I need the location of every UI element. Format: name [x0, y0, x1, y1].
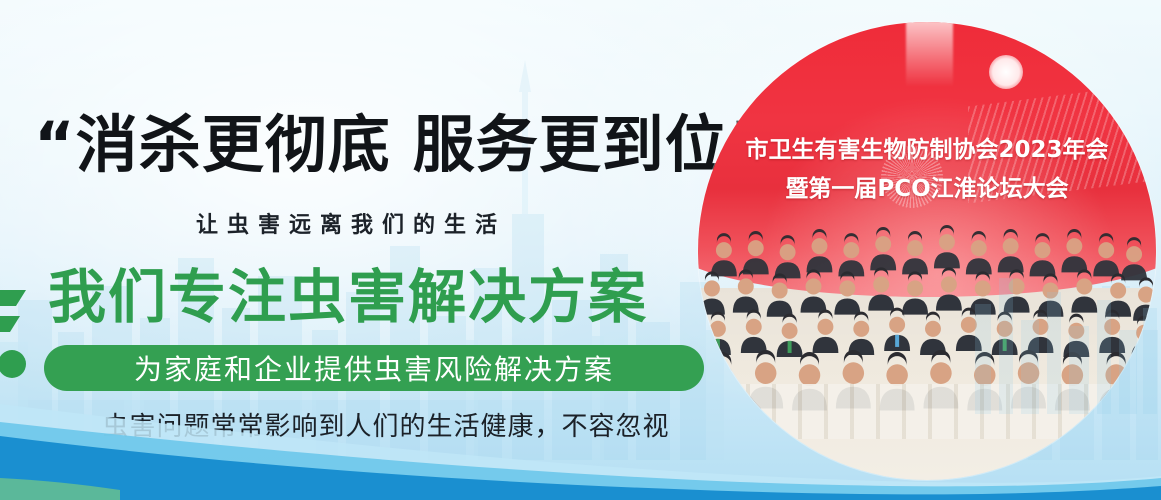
backdrop-headline-line-1: 市卫生有害生物防制协会2023年会: [698, 130, 1156, 164]
backdrop-headline-line-2: 暨第一届PCO江淮论坛大会: [698, 169, 1156, 203]
page-title: “消杀更彻底服务更到位”: [34, 114, 714, 176]
chevron-decoration-icon: [0, 286, 44, 406]
headline-part-1: “消杀更彻底: [34, 108, 391, 181]
conference-photo: 防制协会 市卫生有害生物防制协会2023年会 暨第一届PCO江淮论坛大会: [698, 22, 1156, 480]
stage-light-streak: [906, 22, 952, 87]
value-proposition-pill: 为家庭和企业提供虫害风险解决方案: [44, 345, 704, 391]
green-headline: 我们专注虫害解决方案: [48, 268, 648, 326]
photo-chair-row: [698, 384, 1156, 439]
subtitle: 让虫害远离我们的生活: [196, 207, 506, 239]
tagline: 虫害问题常常影响到人们的生活健康，不容忽视: [66, 406, 706, 443]
spotlight-icon: [989, 55, 1023, 89]
backdrop-association-mark: 防制协会: [706, 59, 755, 79]
copy-block: “消杀更彻底服务更到位” 让虫害远离我们的生活 我们专注虫害解决方案 为家庭和企…: [0, 0, 720, 500]
pill-label: 为家庭和企业提供虫害风险解决方案: [134, 348, 614, 388]
hero-banner: “消杀更彻底服务更到位” 让虫害远离我们的生活 我们专注虫害解决方案 为家庭和企…: [0, 0, 1161, 500]
